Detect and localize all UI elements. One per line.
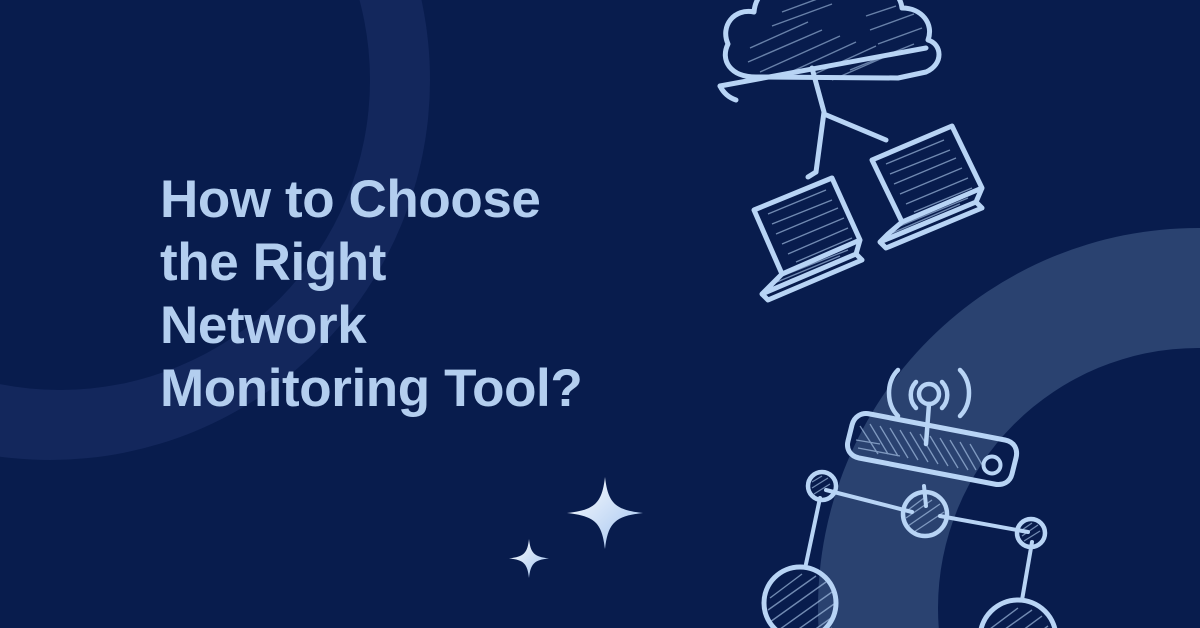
sparkle-large-icon [567,477,643,549]
cloud-connected-laptops-illustration [690,0,1030,312]
laptop-right-icon [872,126,982,248]
wireless-router-network-illustration [760,348,1080,628]
sparkle-small-icon [509,539,549,578]
topology-endpoint-left [764,567,836,628]
cloud-hatching [748,0,922,80]
router-body-icon [847,414,1016,485]
sparkle-stars [495,455,695,595]
page-title: How to Choose the Right Network Monitori… [160,168,680,420]
topology-links [806,486,1032,600]
social-card: How to Choose the Right Network Monitori… [0,0,1200,628]
router-antenna-icon [919,384,939,444]
topology-endpoint-right [980,600,1056,628]
topology-node-left [808,472,836,500]
cloud-base-tip [720,86,736,100]
laptop-left-icon [754,178,862,300]
